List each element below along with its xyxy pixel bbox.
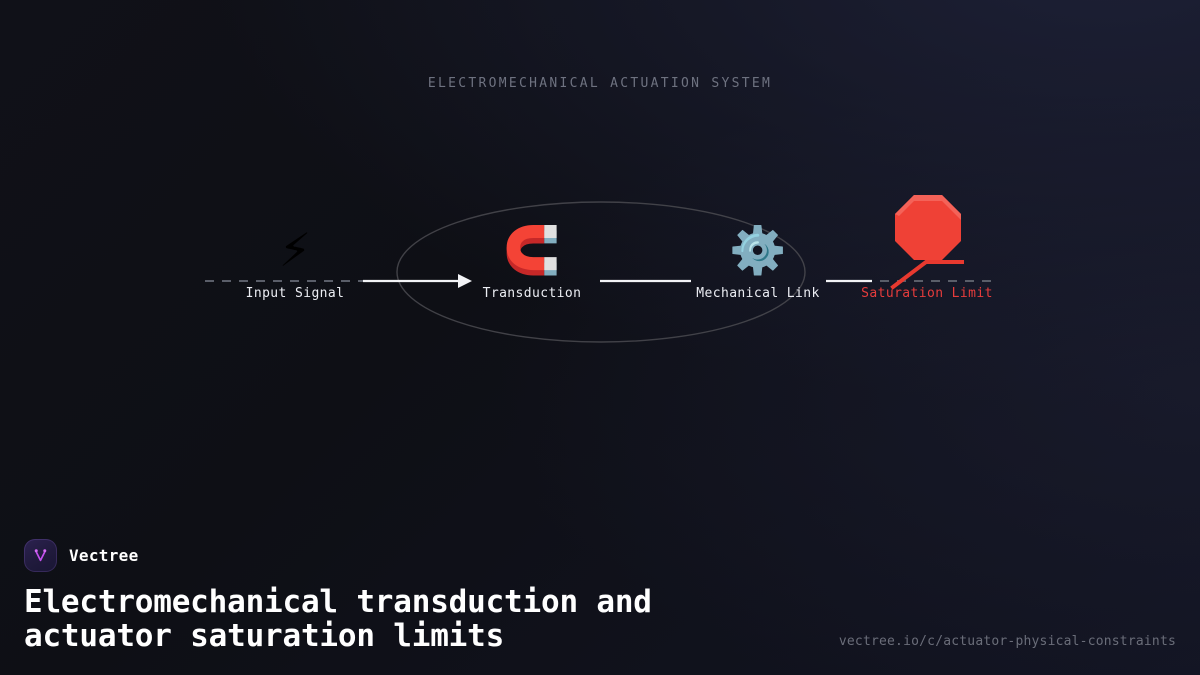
- diagram-node-label-saturation-limit: Saturation Limit: [842, 286, 1012, 301]
- brand-name: Vectree: [69, 546, 139, 565]
- diagram-node-saturation-limit[interactable]: 🛑 Saturation Limit: [842, 222, 1012, 301]
- diagram-node-transduction[interactable]: 🧲 Transduction: [447, 222, 617, 301]
- diagram-node-label-transduction: Transduction: [447, 286, 617, 301]
- diagram-node-input-signal[interactable]: ⚡ Input Signal: [210, 222, 380, 301]
- brand-row: Vectree: [24, 539, 1176, 572]
- diagram-node-mechanical-link[interactable]: ⚙️ Mechanical Link: [673, 222, 843, 301]
- gear-emoji-icon: ⚙️: [673, 222, 843, 278]
- diagram-node-label-input-signal: Input Signal: [210, 286, 380, 301]
- magnet-emoji-icon: 🧲: [447, 222, 617, 278]
- slide-canvas: ELECTROMECHANICAL ACTUATION SYSTEM: [0, 0, 1200, 675]
- vectree-logo-icon: [24, 539, 57, 572]
- diagram-title: ELECTROMECHANICAL ACTUATION SYSTEM: [0, 76, 1200, 91]
- headline: Electromechanical transduction and actua…: [24, 586, 814, 653]
- diagram-node-label-mechanical-link: Mechanical Link: [673, 286, 843, 301]
- footer-url: vectree.io/c/actuator-physical-constrain…: [839, 634, 1176, 649]
- footer: Vectree Electromechanical transduction a…: [0, 539, 1200, 675]
- high-voltage-emoji-icon: ⚡: [210, 222, 380, 278]
